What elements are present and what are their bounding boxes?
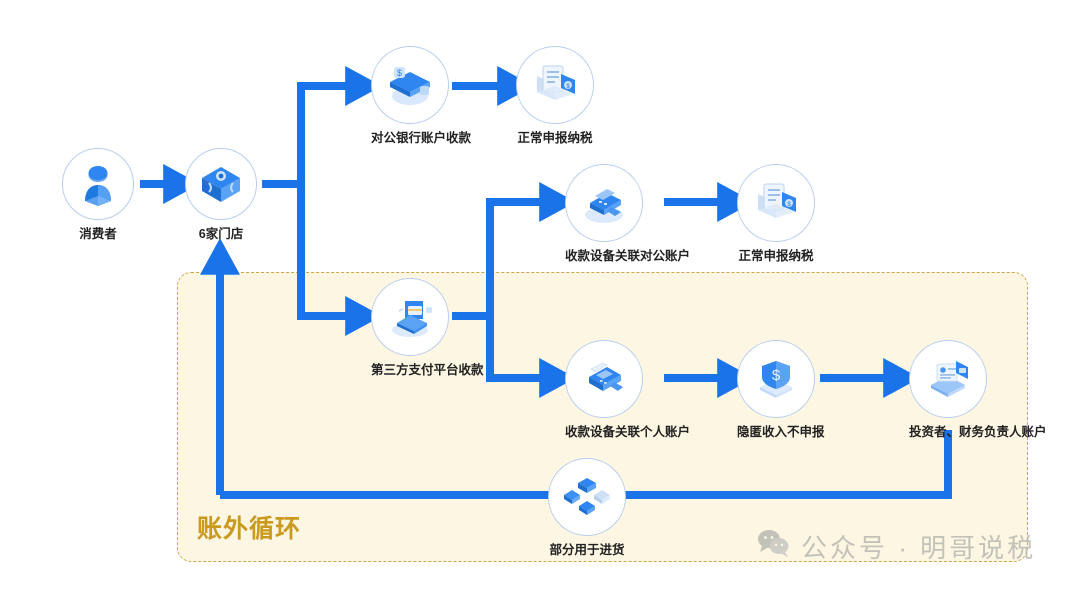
node-label: 正常申报纳税 <box>516 131 594 146</box>
node-hidden-income[interactable]: $ 隐匿收入不申报 <box>737 340 815 440</box>
node-label: 投资者、财务负责人账户 <box>909 425 987 440</box>
tax-report-3d-icon: $ <box>737 164 815 242</box>
wechat-icon <box>757 529 791 564</box>
svg-text:$: $ <box>397 68 402 78</box>
watermark-text: 公众号 · 明哥说税 <box>801 528 1036 565</box>
node-label: 消费者 <box>62 227 134 242</box>
svg-text:$: $ <box>772 367 781 384</box>
node-stores[interactable]: 6家门店 <box>185 148 257 242</box>
node-tax-declared-2[interactable]: $ 正常申报纳税 <box>737 164 815 264</box>
node-consumer[interactable]: 消费者 <box>62 148 134 242</box>
watermark: 公众号 · 明哥说税 <box>757 528 1036 565</box>
diagram-canvas: 消费者 6家门店 $ <box>0 0 1080 602</box>
node-label: 收款设备关联对公账户 <box>565 249 643 264</box>
node-pos-personal[interactable]: 收款设备关联个人账户 <box>565 340 643 440</box>
node-pos-corporate[interactable]: 收款设备关联对公账户 <box>565 164 643 264</box>
laptop-card-3d-icon <box>371 278 449 356</box>
node-third-party-pay[interactable]: 第三方支付平台收款 <box>371 278 449 378</box>
node-label: 6家门店 <box>185 227 257 242</box>
node-investor-account[interactable]: 投资者、财务负责人账户 <box>909 340 987 440</box>
bank-card-3d-icon: $ <box>371 46 449 124</box>
node-label: 部分用于进货 <box>548 543 626 558</box>
pos-handheld-3d-icon <box>565 340 643 418</box>
shield-money-3d-icon: $ <box>737 340 815 418</box>
node-label: 收款设备关联个人账户 <box>565 425 643 440</box>
off-book-region-label: 账外循环 <box>197 509 301 545</box>
node-label: 正常申报纳税 <box>737 249 815 264</box>
node-bank-account[interactable]: $ 对公银行账户收款 <box>371 46 449 146</box>
network-cubes-3d-icon <box>548 458 626 536</box>
node-label: 对公银行账户收款 <box>371 131 449 146</box>
store-box-3d-icon <box>185 148 257 220</box>
person-3d-icon <box>62 148 134 220</box>
node-label: 隐匿收入不申报 <box>737 425 815 440</box>
pos-terminal-3d-icon <box>565 164 643 242</box>
node-purchase-use[interactable]: 部分用于进货 <box>548 458 626 558</box>
node-tax-declared-1[interactable]: $ 正常申报纳税 <box>516 46 594 146</box>
tax-report-3d-icon: $ <box>516 46 594 124</box>
node-label: 第三方支付平台收款 <box>371 363 449 378</box>
laptop-profile-3d-icon <box>909 340 987 418</box>
